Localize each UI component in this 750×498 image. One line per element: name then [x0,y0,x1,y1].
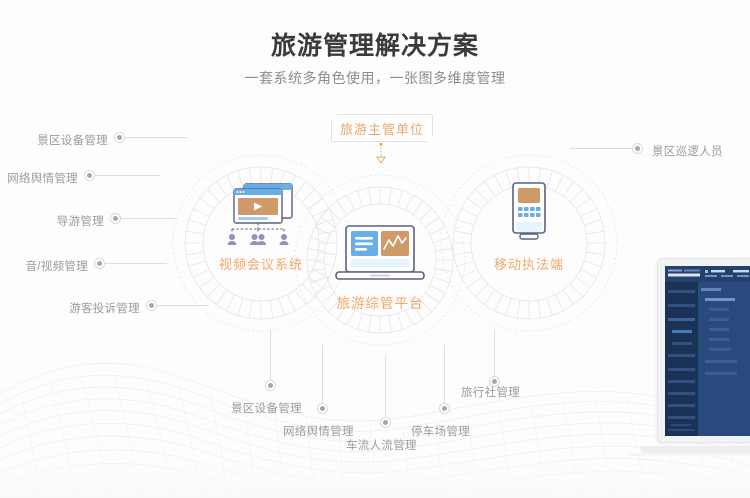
video-window-icon [218,180,304,248]
left-label-0: 景区设备管理 [0,132,108,148]
dashboard-sidebar [665,282,698,436]
node-tourism-platform[interactable]: 旅游综管平台 [315,224,445,312]
left-dot-2 [110,213,121,224]
bottom-line-1 [322,345,323,403]
node-label-tourism-platform: 旅游综管平台 [315,292,445,312]
right-line-0 [570,148,632,149]
background-fade [0,458,750,498]
solution-diagram-canvas: 旅游管理解决方案 一套系统多角色使用，一张图多维度管理 旅游主管单位 [0,0,750,498]
dotted-down-arrow-icon [374,143,388,165]
laptop-screen [665,266,750,436]
right-dot-0 [632,143,643,154]
bottom-line-0 [270,330,271,380]
bottom-dot-0 [265,380,276,391]
bottom-line-3 [444,345,445,403]
page-subtitle: 一套系统多角色使用，一张图多维度管理 [0,68,750,88]
bottom-line-4 [494,330,495,376]
left-line-1 [95,175,160,176]
dashboard-content [698,282,750,436]
left-label-3: 音/视频管理 [0,258,88,274]
node-video-conference[interactable]: 视频会议系统 [196,180,326,273]
dashboard-topbar [665,266,750,282]
left-label-1: 网络舆情管理 [0,170,78,186]
dashboard-topnav [705,269,750,279]
left-dot-3 [94,258,105,269]
bottom-dot-1 [317,403,328,414]
bottom-label-4: 旅行社管理 [461,384,520,400]
authority-label: 旅游主管单位 [340,119,424,138]
bottom-line-2 [385,355,386,417]
bottom-dot-3 [439,403,450,414]
dashboard-logo-icon [668,269,702,278]
handheld-device-icon [498,180,560,248]
bottom-label-0: 景区设备管理 [231,400,302,416]
node-label-video-conference: 视频会议系统 [196,254,326,273]
bottom-label-2: 车流人流管理 [346,437,417,453]
left-label-4: 游客投诉管理 [0,300,140,316]
left-line-3 [105,263,167,264]
laptop-base [641,446,750,453]
laptop-lid [657,258,750,443]
laptop-dashboard-icon [330,224,430,286]
left-dot-1 [84,170,95,181]
left-dot-4 [146,300,157,311]
page-title: 旅游管理解决方案 [0,26,750,62]
bottom-label-3: 停车场管理 [411,423,470,439]
right-label-0: 景区巡逻人员 [652,143,723,159]
left-line-4 [157,305,209,306]
left-line-2 [121,218,177,219]
bottom-label-1: 网络舆情管理 [283,423,354,439]
left-label-2: 导游管理 [0,213,104,229]
node-label-mobile-enforcement: 移动执法端 [464,254,594,273]
node-mobile-enforcement[interactable]: 移动执法端 [464,180,594,273]
bottom-dot-2 [380,417,391,428]
left-line-0 [125,137,187,138]
laptop-dashboard-mockup [651,258,750,473]
laptop-base-shadow [629,453,750,456]
authority-box[interactable]: 旅游主管单位 [331,114,433,142]
left-dot-0 [114,132,125,143]
